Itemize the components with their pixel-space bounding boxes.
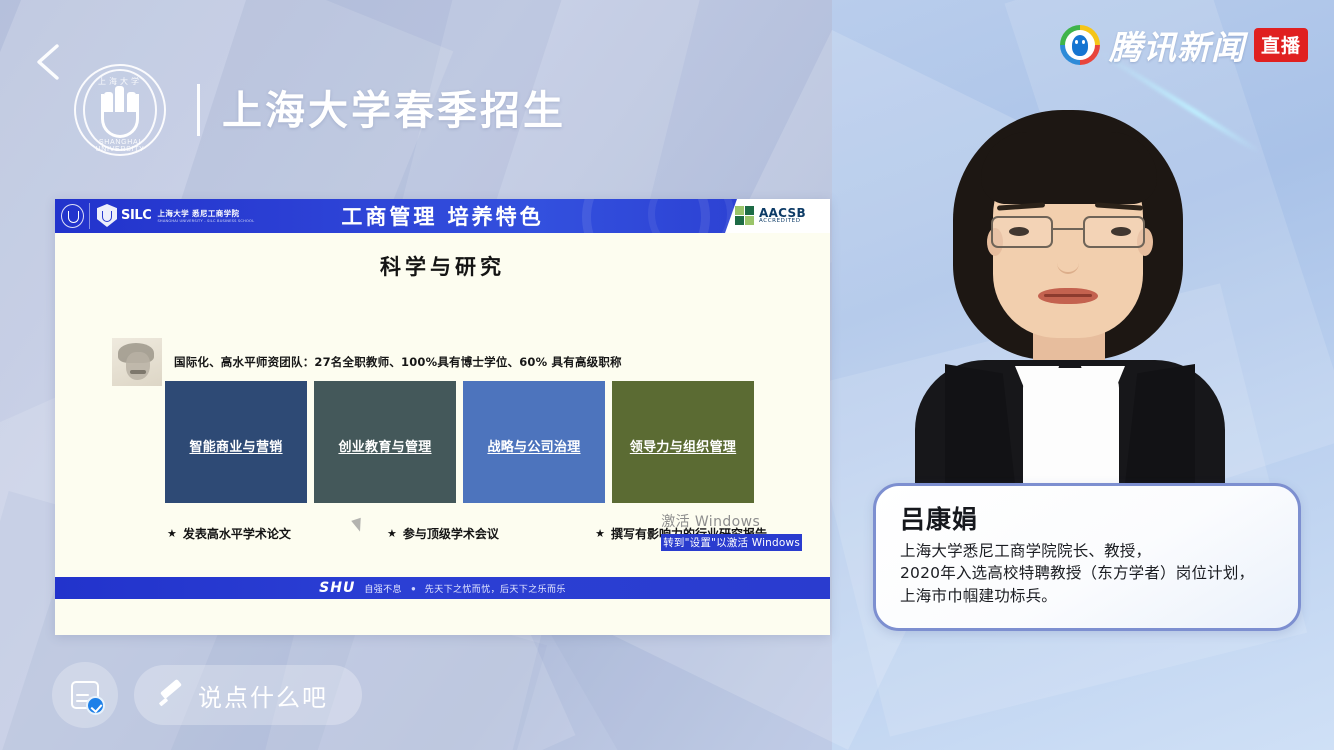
pillar-label: 战略与公司治理 [487,436,580,455]
pillar-label: 创业教育与管理 [338,436,431,455]
logo-arc-text: SHANGHAI UNIVERSITY [74,139,166,153]
einstein-sketch-icon [112,338,162,386]
presentation-slide[interactable]: SILC 上海大学 悉尼工商学院 SHANGHAI UNIVERSITY - S… [55,199,830,635]
footer-dot: ● [411,584,416,593]
shanghai-university-logo: 上海大学 SHANGHAI UNIVERSITY [74,64,166,156]
pillar-card[interactable]: 领导力与组织管理 [612,381,754,503]
back-chevron-icon[interactable] [30,38,70,86]
speaker-bio-line: 上海大学悉尼工商学院院长、教授， [900,540,1274,562]
aacsb-accreditation-badge: AACSB ACCREDITED [725,199,830,233]
page-title: 上海大学春季招生 [222,78,566,136]
speaker-info-card: 吕康娟 上海大学悉尼工商学院院长、教授， 2020年入选高校特聘教授（东方学者）… [873,483,1301,631]
verified-check-icon [86,696,105,715]
pillar-card[interactable]: 战略与公司治理 [463,381,605,503]
outcome-label: 发表高水平学术论文 [183,525,291,542]
slide-header-title: 工商管理 培养特色 [55,199,830,233]
speaker-bio-line: 上海市巾帼建功标兵。 [900,585,1274,607]
outcome-label: 参与顶级学术会议 [403,525,499,542]
live-badge: 直播 [1254,28,1308,62]
aacsb-logo-icon [735,206,755,226]
bottom-action-bar: 说点什么吧 [52,662,362,728]
pencil-icon [158,682,184,708]
pillar-card[interactable]: 智能商业与营销 [165,381,307,503]
tencent-news-brand: 腾讯新闻 直播 [1060,22,1308,68]
watermark-line-2: 转到"设置"以激活 Windows [661,534,802,551]
research-pillars: 智能商业与营销 创业教育与管理 战略与公司治理 领导力与组织管理 [165,381,754,503]
top-bar: 上海大学 SHANGHAI UNIVERSITY 上海大学春季招生 腾讯新闻 直… [0,0,1334,170]
speaker-name: 吕康娟 [900,500,1274,536]
footer-motto-2: 先天下之忧而忧，后天下之乐而乐 [425,582,566,595]
footer-motto-1: 自强不息 [364,582,402,595]
portrait-glasses [989,216,1147,250]
comment-placeholder: 说点什么吧 [198,678,328,713]
speaker-portrait [905,110,1235,510]
slide-body: 科学与研究 国际化、高水平师资团队：27名全职教师、100%具有博士学位、60%… [55,233,830,599]
document-verified-icon[interactable] [52,662,118,728]
star-icon: ★ [595,527,605,540]
pillar-card[interactable]: 创业教育与管理 [314,381,456,503]
slide-header-bar: SILC 上海大学 悉尼工商学院 SHANGHAI UNIVERSITY - S… [55,199,830,233]
pillar-label: 智能商业与营销 [189,436,282,455]
comment-input[interactable]: 说点什么吧 [134,665,362,725]
watermark-line-1: 激活 Windows [661,511,802,531]
pillar-label: 领导力与组织管理 [630,436,736,455]
slide-title: 科学与研究 [55,251,830,281]
outcome-item: ★ 参与顶级学术会议 [387,525,499,542]
qq-penguin-icon [1060,25,1100,65]
logo-u-mark [101,94,139,138]
portrait-nose [1057,248,1079,274]
portrait-mouth [1038,288,1098,304]
speaker-bio-line: 2020年入选高校特聘教授（东方学者）岗位计划， [900,562,1274,584]
outcome-item: ★ 发表高水平学术论文 [167,525,291,542]
faculty-description: 国际化、高水平师资团队：27名全职教师、100%具有博士学位、60% 具有高级职… [174,354,622,370]
faculty-row: 国际化、高水平师资团队：27名全职教师、100%具有博士学位、60% 具有高级职… [112,338,622,386]
star-icon: ★ [387,527,397,540]
slide-footer-bar: SHU 自强不息 ● 先天下之忧而忧，后天下之乐而乐 [55,577,830,599]
aacsb-status: ACCREDITED [759,219,806,225]
windows-activation-watermark: 激活 Windows 转到"设置"以激活 Windows [661,511,802,551]
title-divider [197,84,200,136]
shu-wordmark: SHU [319,580,355,596]
star-icon: ★ [167,527,177,540]
brand-name: 腾讯新闻 [1109,21,1245,69]
